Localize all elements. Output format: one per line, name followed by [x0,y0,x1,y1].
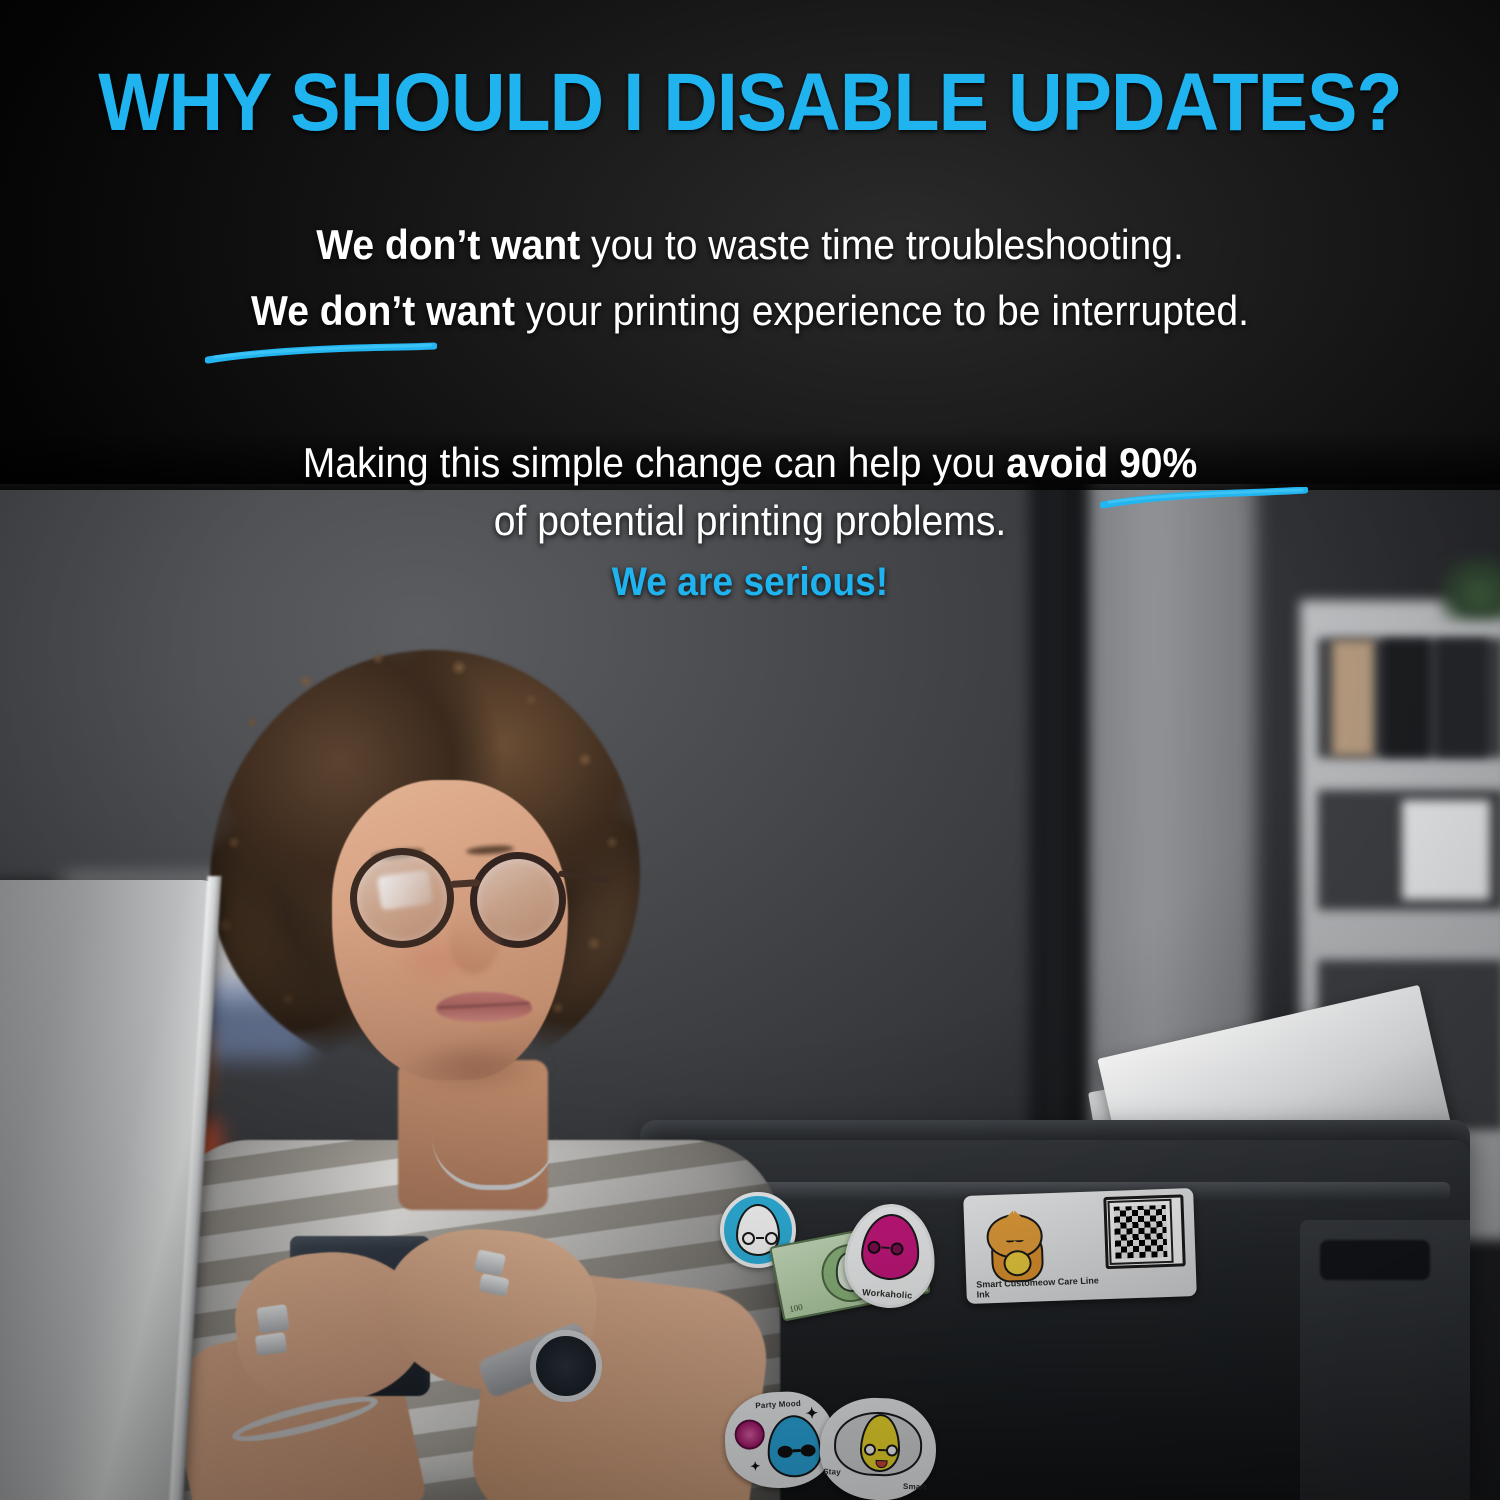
binder-dark-1 [1382,640,1430,756]
care-line-card: Smart Customeow Care Line Ink [963,1188,1197,1304]
binder-white [1402,800,1490,900]
cat-eye-left [1015,1238,1024,1242]
cat-icon [972,1209,1059,1288]
sticker-label-right: Smart [903,1482,927,1492]
sticker-stay-smart: Stay Smart [820,1398,936,1500]
sticker-label-left: Stay [823,1467,841,1477]
glasses-icon [864,1444,898,1458]
underline-stroke-1 [205,342,437,364]
banknote-denomination-small: 100 [788,1302,803,1314]
binder-tan [1332,640,1374,756]
workaholic-drop-icon [859,1212,921,1282]
monitor-icon [1103,1194,1185,1269]
stay-smart-blob: Stay Smart [818,1396,937,1500]
tongue-icon [875,1460,887,1468]
benefit-line-2: We don’t want your printing experience t… [53,288,1448,334]
sticker-party-mood: ✦ ✦ Party Mood [725,1392,835,1488]
sticker-label: Workaholic [845,1286,929,1302]
benefit-line-1-bold: We don’t want [316,221,580,268]
ring-2 [255,1332,287,1356]
hair-curl-highlights [198,640,648,1100]
sunglasses-icon [777,1444,816,1458]
card-label: Smart Customeow Care Line Ink [976,1276,1099,1299]
ring-1 [256,1304,289,1334]
glasses-icon [742,1232,778,1245]
promo-graphic: 100 100 Workaholic [0,0,1500,1500]
qr-code-icon [1110,1201,1172,1263]
person-photo [150,640,770,1500]
cat-eye-right [1006,1238,1015,1242]
disco-ball-icon [734,1419,766,1451]
benefit-line-3-bold: avoid 90% [1006,439,1197,486]
glasses-icon [867,1240,904,1255]
binder-dark-2 [1436,640,1488,756]
printer-handle [1320,1240,1430,1280]
benefit-line-2-bold: We don’t want [251,287,515,334]
benefit-line-4: of potential printing problems. [53,498,1448,544]
page-title: WHY SHOULD I DISABLE UPDATES? [60,62,1440,144]
sticker-drop-magenta: Workaholic [841,1201,938,1311]
cat-ear-right [1000,1208,1021,1228]
benefit-line-3: Making this simple change can help you a… [53,440,1448,486]
sticker-smart-care-card: Smart Customeow Care Line Ink [965,1192,1195,1300]
party-drop-icon [766,1414,823,1479]
sparkle-icon-2: ✦ [750,1459,761,1474]
sticker-workaholic: Workaholic [845,1204,935,1308]
benefit-line-2-rest: your printing experience to be interrupt… [515,287,1249,334]
benefit-line-1-rest: you to waste time troubleshooting. [580,221,1184,268]
benefit-line-1: We don’t want you to waste time troubles… [53,222,1448,268]
text-overlay: WHY SHOULD I DISABLE UPDATES? We don’t w… [0,0,1500,640]
wristwatch-icon [530,1330,602,1402]
benefit-line-3-plain: Making this simple change can help you [303,439,1006,486]
emphasis-line: We are serious! [53,560,1448,604]
